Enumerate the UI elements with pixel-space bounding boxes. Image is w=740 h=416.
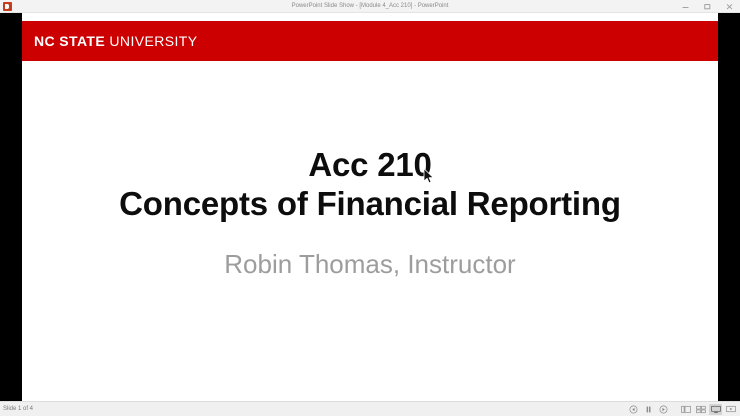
status-bar: Slide 1 of 4	[0, 401, 740, 416]
window-controls	[674, 0, 740, 12]
brand-secondary-text: UNIVERSITY	[109, 33, 197, 49]
pause-button[interactable]	[642, 404, 655, 415]
brand-primary-text: NC STATE	[34, 33, 105, 49]
view-reading-button[interactable]	[709, 404, 722, 415]
slide-subtitle: Robin Thomas, Instructor	[22, 249, 718, 280]
close-button[interactable]	[718, 0, 740, 12]
slide-title-line-2: Concepts of Financial Reporting	[22, 184, 718, 223]
view-normal-button[interactable]	[679, 404, 692, 415]
title-bar: PowerPoint Slide Show - [Module 4_Acc 21…	[0, 0, 740, 13]
slide-title-line-1: Acc 210	[22, 145, 718, 184]
view-slide-show-button[interactable]	[724, 404, 737, 415]
window-title: PowerPoint Slide Show - [Module 4_Acc 21…	[0, 0, 740, 12]
status-bar-controls	[627, 404, 737, 415]
powerpoint-slideshow-window: PowerPoint Slide Show - [Module 4_Acc 21…	[0, 0, 740, 416]
slide-counter: Slide 1 of 4	[3, 406, 33, 412]
nc-state-wordmark: NC STATE UNIVERSITY	[34, 33, 197, 49]
restore-button[interactable]	[696, 0, 718, 12]
minimize-button[interactable]	[674, 0, 696, 12]
nc-state-brand-banner: NC STATE UNIVERSITY	[22, 21, 718, 61]
previous-slide-button[interactable]	[627, 404, 640, 415]
view-slide-sorter-button[interactable]	[694, 404, 707, 415]
slide-show-stage[interactable]: NC STATE UNIVERSITY Acc 210 Concepts of …	[0, 13, 740, 401]
slide-canvas[interactable]: NC STATE UNIVERSITY Acc 210 Concepts of …	[22, 13, 718, 401]
next-slide-button[interactable]	[657, 404, 670, 415]
powerpoint-icon	[3, 2, 12, 11]
slide-title: Acc 210 Concepts of Financial Reporting	[22, 145, 718, 223]
